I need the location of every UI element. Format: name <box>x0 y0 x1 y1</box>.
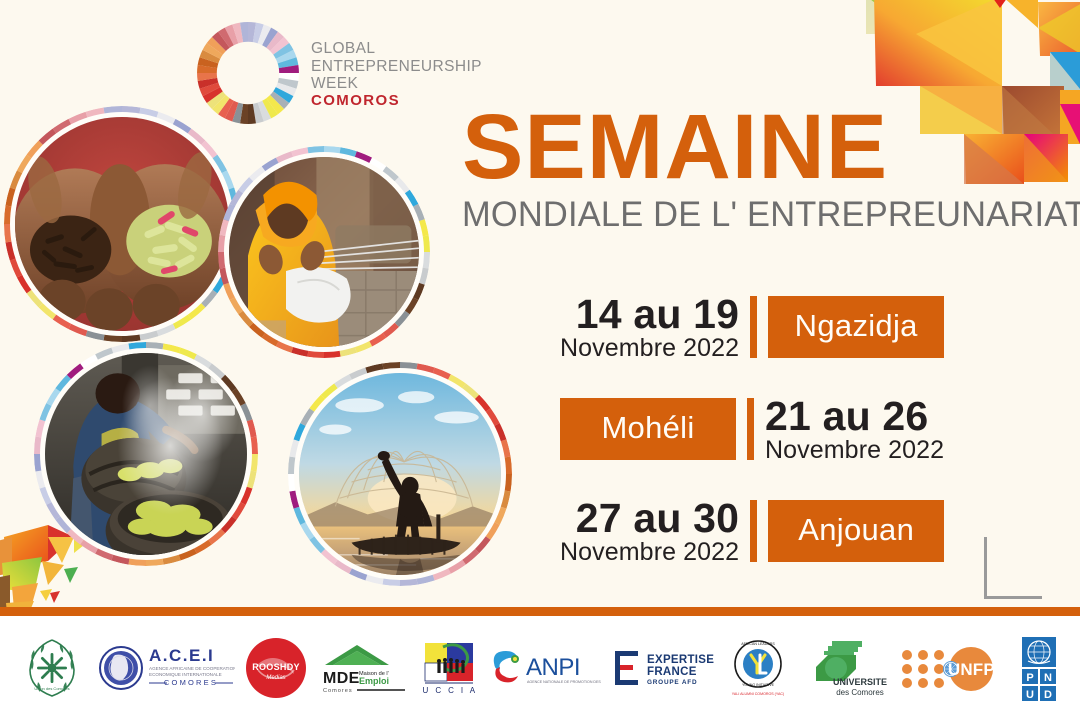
acei-sub2: ECONOMIQUE INTERNATIONALE <box>149 672 222 677</box>
gew-line-1: GLOBAL <box>311 40 482 58</box>
sponsor-pnud: P N U D <box>1016 632 1062 704</box>
pnud-letter-d: D <box>1044 689 1052 701</box>
photo-image-1 <box>15 117 229 331</box>
sponsor-unfpa: UNFPA <box>899 632 1007 704</box>
orange-divider-bar <box>0 607 1080 616</box>
svg-text:Union des Comores: Union des Comores <box>35 686 70 691</box>
photo-image-2 <box>229 157 419 347</box>
photo-woman-embroidery <box>218 146 430 358</box>
acei-title: A.C.E.I <box>149 646 214 665</box>
gew-line-3: WEEK <box>311 75 482 93</box>
rooshdy-title: ROOSHDY <box>252 662 300 672</box>
sponsor-acei: A.C.E.I AGENCE AFRICAINE DE COOPERATION … <box>95 632 235 704</box>
svg-text:AGENCE NATIONALE DE PROMOTION: AGENCE NATIONALE DE PROMOTION DES INVEST… <box>527 680 602 684</box>
photo-spices-hands <box>4 106 240 342</box>
svg-text:YOUNG INITIATIVE: YOUNG INITIATIVE <box>742 683 775 687</box>
pnud-letter-u: U <box>1026 689 1034 701</box>
yali-sub: YALI ALUMNI COMOROS (YAC) <box>732 692 784 696</box>
mde-sub2: Emploi <box>359 676 389 686</box>
sponsor-yali: AFRICAN LEADERS YOUNG INITIATIVE YALI AL… <box>727 632 789 704</box>
date-block-ngazidja: 14 au 19Novembre 2022 <box>560 294 739 361</box>
page-title: SEMAINE <box>462 104 1022 190</box>
udc-sub: des Comores <box>836 688 884 697</box>
sponsor-mde-comores: MDE Maison de l' Emploi Comores <box>317 632 411 704</box>
photo-fisherman-net <box>288 362 512 586</box>
date-month-moheli: Novembre 2022 <box>765 438 944 463</box>
photo-ylang-distillation <box>34 342 258 566</box>
date-month-anjouan: Novembre 2022 <box>560 540 739 565</box>
uccia-title: U C C I A <box>423 686 478 695</box>
sponsor-anpi: ANPI AGENCE NATIONALE DE PROMOTION DES I… <box>490 632 602 704</box>
date-range-ngazidja: 14 au 19 <box>560 294 739 335</box>
photo-collage <box>0 104 520 604</box>
island-badge-moheli[interactable]: Mohéli <box>560 398 736 460</box>
corner-bracket-decoration <box>984 537 1042 599</box>
date-block-moheli: 21 au 26Novembre 2022 <box>765 396 944 463</box>
acei-sub1: AGENCE AFRICAINE DE COOPERATION <box>149 666 235 671</box>
schedule-row-moheli: Mohéli21 au 26Novembre 2022 <box>560 392 1030 466</box>
svg-text:AFRICAN LEADERS: AFRICAN LEADERS <box>742 642 776 646</box>
udc-title: UNIVERSITE <box>833 677 887 687</box>
separator-bar-anjouan <box>750 500 757 562</box>
date-range-moheli: 21 au 26 <box>765 396 944 437</box>
mde-title: MDE <box>323 670 360 687</box>
ef-sub2: GROUPE AFD <box>647 679 697 686</box>
headline-block: SEMAINE MONDIALE DE L' ENTREPREUNARIAT <box>462 104 1022 234</box>
sponsor-rooshdy-medias: ROOSHDY Medias <box>244 632 308 704</box>
separator-bar-moheli <box>747 398 754 460</box>
schedule-list: 14 au 19Novembre 2022NgazidjaMohéli21 au… <box>560 290 1030 596</box>
pnud-letter-n: N <box>1044 672 1052 684</box>
sponsor-uccia: U C C I A <box>419 632 481 704</box>
date-range-anjouan: 27 au 30 <box>560 498 739 539</box>
date-block-anjouan: 27 au 30Novembre 2022 <box>560 498 739 565</box>
unfpa-title: UNFPA <box>948 660 1006 679</box>
sponsor-expertise-france: EXPERTISE FRANCE GROUPE AFD <box>611 632 719 704</box>
ef-title: EXPERTISE <box>647 654 714 666</box>
rooshdy-sub: Medias <box>266 675 285 681</box>
separator-bar-ngazidja <box>750 296 757 358</box>
schedule-row-anjouan: 27 au 30Novembre 2022Anjouan <box>560 494 1030 568</box>
poster-canvas: GLOBAL ENTREPRENEURSHIP WEEK COMOROS SEM… <box>0 0 1080 719</box>
photo-image-3 <box>45 353 247 555</box>
mde-sub3: Comores <box>323 688 353 694</box>
schedule-row-ngazidja: 14 au 19Novembre 2022Ngazidja <box>560 290 1030 364</box>
date-month-ngazidja: Novembre 2022 <box>560 336 739 361</box>
gew-line-2: ENTREPRENEURSHIP <box>311 58 482 76</box>
ef-sub1: FRANCE <box>647 666 697 678</box>
sponsor-union-des-comores: Union des Comores <box>18 632 86 704</box>
pnud-letter-p: P <box>1026 672 1033 684</box>
island-badge-ngazidja[interactable]: Ngazidja <box>768 296 944 358</box>
photo-image-4 <box>299 373 501 575</box>
gew-logo-text: GLOBAL ENTREPRENEURSHIP WEEK COMOROS <box>311 36 482 109</box>
anpi-title: ANPI <box>526 654 580 681</box>
acei-sub3: COMORES <box>164 678 218 687</box>
island-badge-anjouan[interactable]: Anjouan <box>768 500 944 562</box>
sponsor-universite-des-comores: UNIVERSITE des Comores <box>798 632 890 704</box>
page-subtitle: MONDIALE DE L' ENTREPREUNARIAT <box>462 196 1005 233</box>
sponsors-strip: Union des Comores A.C.E.I AGENCE AFRICAI… <box>0 616 1080 719</box>
